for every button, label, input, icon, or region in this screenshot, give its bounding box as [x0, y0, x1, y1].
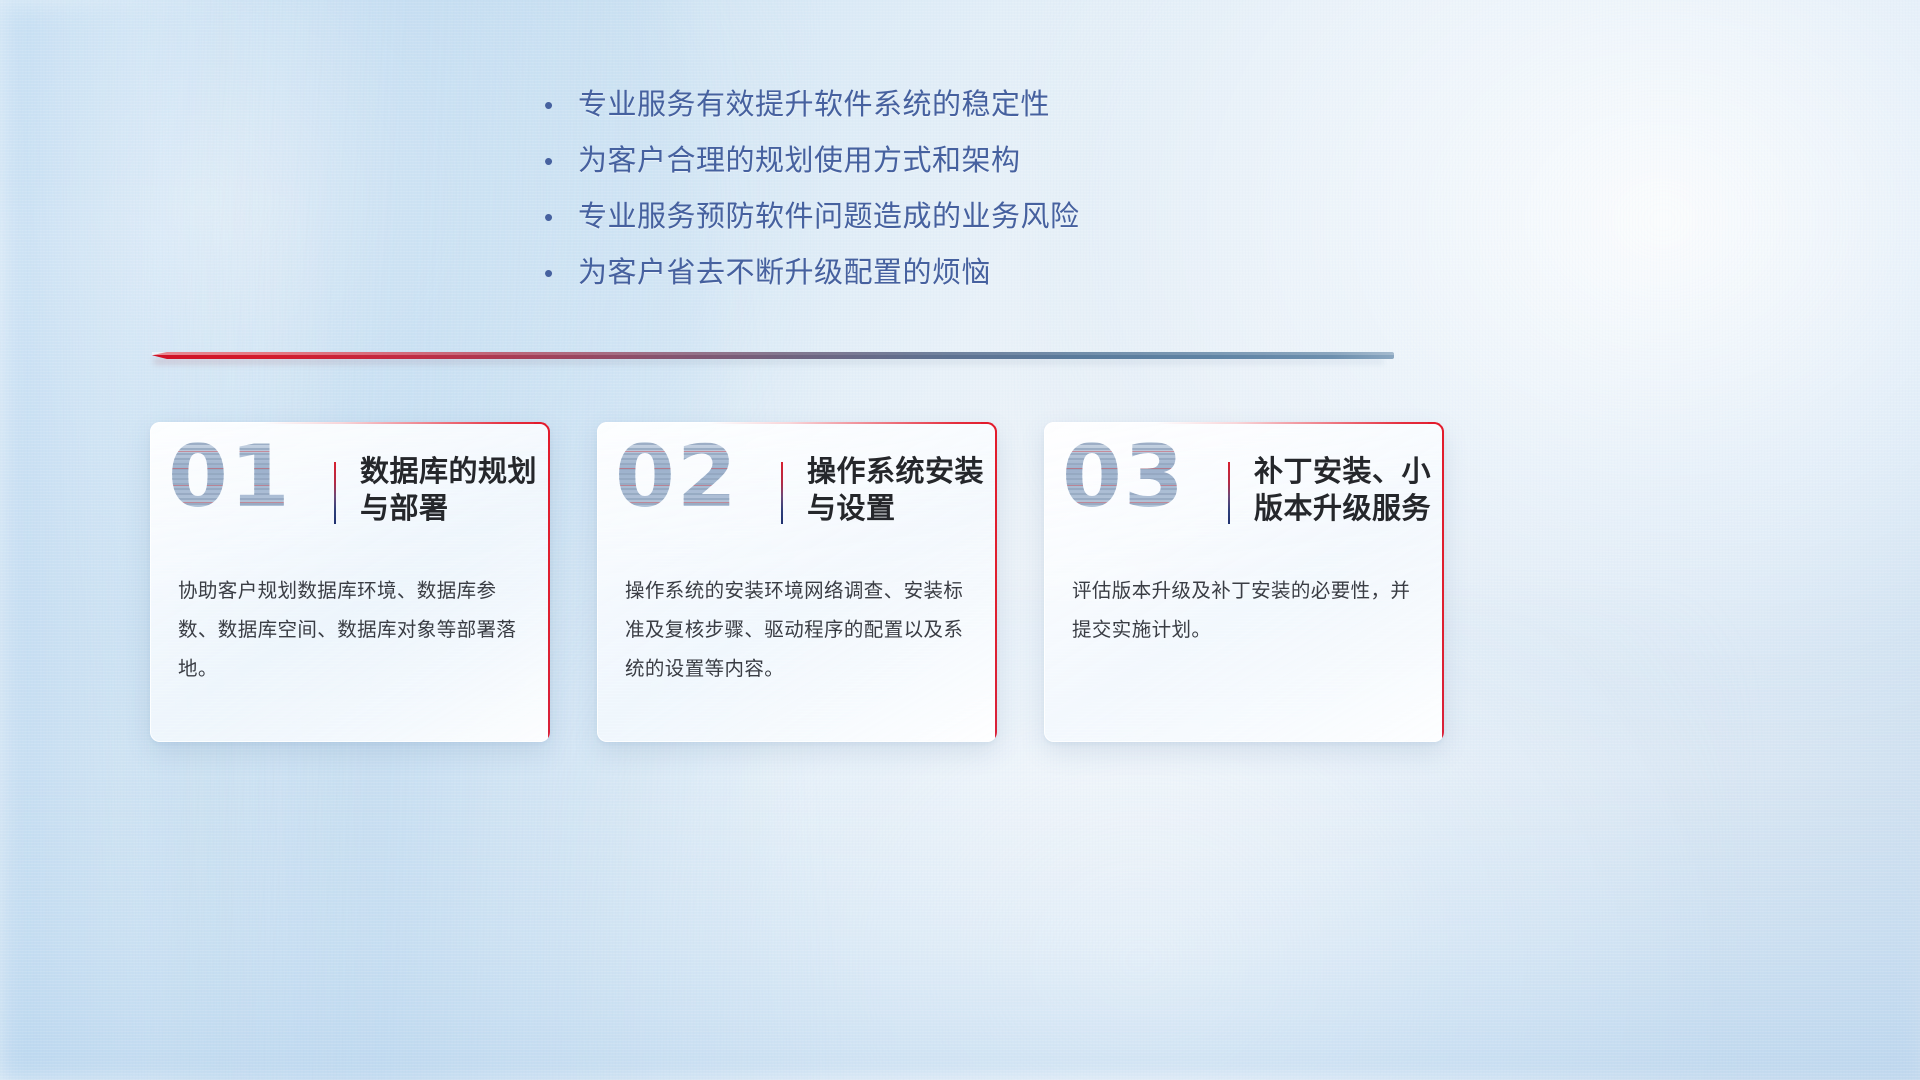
card-title: 数据库的规划与部署 [360, 454, 540, 527]
section-divider [152, 348, 1394, 364]
bullet-text: 专业服务有效提升软件系统的稳定性 [578, 86, 1050, 125]
bullet-text: 为客户合理的规划使用方式和架构 [578, 142, 1021, 181]
card-body-text: 操作系统的安装环境网络调查、安装标准及复核步骤、驱动程序的配置以及系统的设置等内… [625, 572, 969, 689]
card-number-watermark: 01 [168, 434, 292, 520]
card-number-watermark: 03 [1062, 434, 1186, 520]
bullet-marker-icon: • [540, 92, 578, 118]
bullet-marker-icon: • [540, 260, 578, 286]
card-header: 03 03 补丁安装、小版本升级服务 [1044, 422, 1444, 562]
benefits-bullet-list: • 专业服务有效提升软件系统的稳定性 • 为客户合理的规划使用方式和架构 • 专… [540, 86, 1380, 309]
card-title-rule [781, 462, 783, 524]
bullet-item: • 专业服务预防软件问题造成的业务风险 [540, 198, 1380, 237]
divider-shadow [154, 359, 1384, 364]
service-card[interactable]: 02 02 操作系统安装与设置 操作系统的安装环境网络调查、安装标准及复核步骤、… [597, 422, 997, 742]
slide-canvas: • 专业服务有效提升软件系统的稳定性 • 为客户合理的规划使用方式和架构 • 专… [0, 0, 1920, 1080]
bullet-item: • 专业服务有效提升软件系统的稳定性 [540, 86, 1380, 125]
card-title-rule [334, 462, 336, 524]
bullet-text: 专业服务预防软件问题造成的业务风险 [578, 198, 1080, 237]
card-number-watermark: 02 [615, 434, 739, 520]
card-header: 02 02 操作系统安装与设置 [597, 422, 997, 562]
bullet-marker-icon: • [540, 148, 578, 174]
divider-sheen [152, 352, 1394, 355]
service-card-list: 01 01 数据库的规划与部署 协助客户规划数据库环境、数据库参数、数据库空间、… [150, 422, 1444, 742]
service-card[interactable]: 01 01 数据库的规划与部署 协助客户规划数据库环境、数据库参数、数据库空间、… [150, 422, 550, 742]
card-title: 补丁安装、小版本升级服务 [1254, 454, 1434, 527]
bullet-marker-icon: • [540, 204, 578, 230]
card-body-text: 评估版本升级及补丁安装的必要性，并提交实施计划。 [1072, 572, 1416, 650]
card-header: 01 01 数据库的规划与部署 [150, 422, 550, 562]
bullet-item: • 为客户合理的规划使用方式和架构 [540, 142, 1380, 181]
bullet-item: • 为客户省去不断升级配置的烦恼 [540, 254, 1380, 293]
card-title-rule [1228, 462, 1230, 524]
service-card[interactable]: 03 03 补丁安装、小版本升级服务 评估版本升级及补丁安装的必要性，并提交实施… [1044, 422, 1444, 742]
card-title: 操作系统安装与设置 [807, 454, 987, 527]
card-body-text: 协助客户规划数据库环境、数据库参数、数据库空间、数据库对象等部署落地。 [178, 572, 522, 689]
bullet-text: 为客户省去不断升级配置的烦恼 [578, 254, 991, 293]
